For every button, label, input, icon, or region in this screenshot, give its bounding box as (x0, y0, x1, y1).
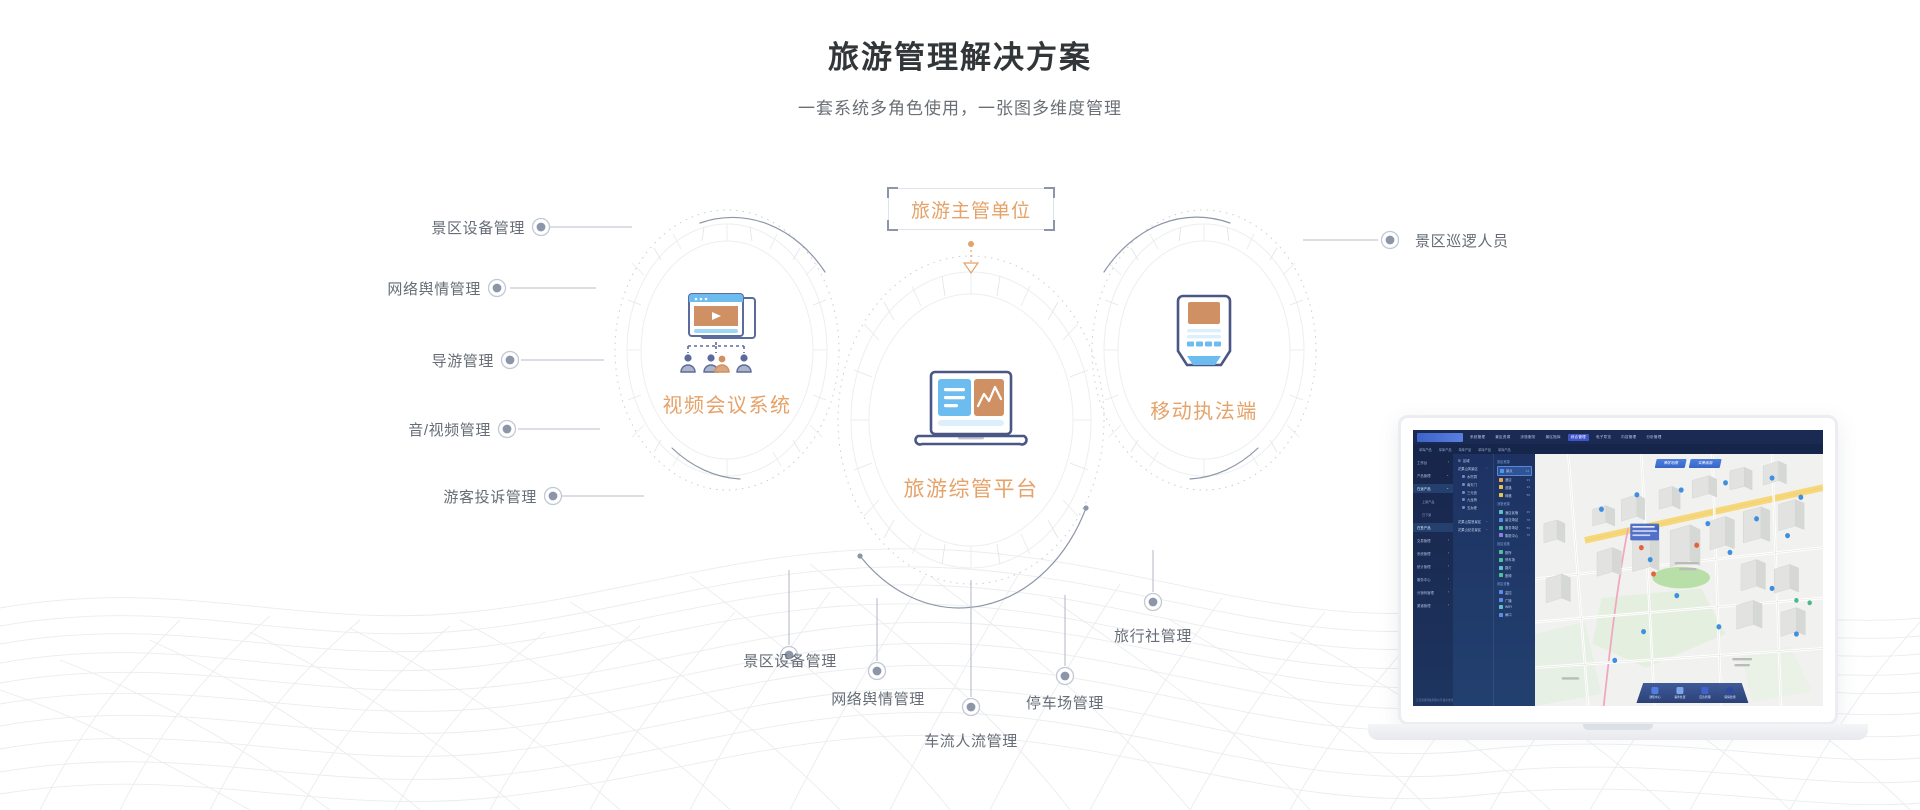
page-subtitle: 一套系统多角色使用，一张图多维度管理 (0, 94, 1920, 119)
region-tree-label-3: 三元宫 (1467, 490, 1477, 495)
page-title: 旅游管理解决方案 (0, 38, 1920, 78)
corner-bottom-left (887, 220, 898, 231)
node-label-bottom-1[interactable]: 网络舆情管理 (818, 688, 938, 709)
layer-count-1-2: 55 (1527, 526, 1530, 530)
topbar-menu-1[interactable]: 景区资源 (1492, 434, 1513, 441)
layer-color-swatch (1499, 558, 1503, 562)
layer-label-3-2: WIFI (1505, 605, 1512, 609)
layer-color-swatch (1499, 518, 1503, 522)
layer-item-1-3[interactable]: 集散中心76 (1497, 531, 1532, 539)
dock-label-1: 事件处置 (1674, 695, 1685, 699)
region-tree-label-6: 花果山智慧景区 (1458, 519, 1481, 524)
topbar-menu-4[interactable]: 综合管理 (1568, 434, 1589, 441)
dashboard-logo (1417, 433, 1463, 442)
region-tree-label-1: 水帘洞 (1467, 474, 1477, 479)
layer-color-swatch (1499, 493, 1503, 497)
hub-title-tourism-platform: 旅游综管平台 (881, 473, 1061, 503)
dashboard-tab-2[interactable]: 单库产品 (1459, 447, 1472, 452)
layer-color-swatch (1499, 478, 1503, 482)
right-connectors (1303, 232, 1399, 249)
dock-item-0[interactable]: 通知中心 (1649, 687, 1660, 699)
emergency-management-icon (1701, 687, 1708, 694)
dock-label-0: 通知中心 (1649, 695, 1660, 699)
left-connectors (510, 227, 644, 496)
hub-title-mobile-enforcement: 移动执法端 (1114, 395, 1294, 424)
layer-color-swatch (1499, 573, 1503, 577)
layer-item-0-2[interactable]: 道路23 (1497, 484, 1532, 492)
video-conference-icon (667, 290, 787, 376)
sidenav-item-11[interactable]: 渠道管理› (1413, 601, 1453, 610)
sidenav-item-2[interactable]: 在途产品⌄ (1413, 484, 1453, 493)
layer-count-0-1: 23 (1527, 478, 1530, 482)
region-tree-label-4: 九龙桥 (1467, 497, 1477, 502)
sidenav-label-8: 统计管理 (1417, 564, 1431, 569)
region-tree-label-0: 花果山风景区 (1458, 466, 1478, 471)
sidenav-item-3[interactable]: 上架产品 (1413, 497, 1453, 506)
node-label-left-3[interactable]: 音/视频管理 (255, 419, 491, 440)
topbar-menu-0[interactable]: 系统管理 (1467, 434, 1488, 441)
bullet-dot (1462, 491, 1465, 494)
sidenav-label-10: 分销商管理 (1417, 590, 1434, 595)
layer-count-1-3: 76 (1527, 533, 1530, 537)
sidenav-item-0[interactable]: 工作台› (1413, 458, 1453, 467)
chevron-right-icon: › (1448, 577, 1449, 582)
node-label-left-0[interactable]: 景区设备管理 (285, 217, 525, 238)
layer-item-0-0[interactable]: 景点23 (1497, 466, 1532, 476)
layer-count-0-0: 23 (1526, 469, 1529, 473)
layer-item-0-1[interactable]: 酒店23 (1497, 476, 1532, 484)
layer-group-title-3: 景区设备 (1497, 581, 1532, 586)
dock-item-2[interactable]: 应急管理 (1699, 687, 1710, 699)
sidenav-label-1: 产品管理 (1417, 473, 1431, 478)
sidenav-label-9: 服务中心 (1417, 577, 1431, 582)
bullet-dot (1462, 506, 1465, 509)
layer-item-1-0[interactable]: 酒店民宿45 (1497, 508, 1532, 516)
layer-color-swatch (1499, 550, 1503, 554)
topbar-menu-2[interactable]: 涉旅服务 (1517, 434, 1538, 441)
event-handling-icon (1676, 687, 1683, 694)
chevron-up-icon: ⌃ (1485, 467, 1488, 471)
layer-label-2-2: 路灯 (1505, 565, 1512, 570)
bullet-dot (1462, 483, 1465, 486)
layer-group-title-0: 景区资源 (1497, 459, 1532, 464)
dashboard-tab-3[interactable]: 单库产品 (1478, 447, 1491, 452)
menu-icon: ☰ (1458, 459, 1461, 463)
hub-video-conference[interactable]: 视频会议系统 (637, 290, 817, 418)
topbar-menu-3[interactable]: 景区指挥 (1543, 434, 1564, 441)
laptop-mockup: 系统管理 景区资源 涉旅服务 景区指挥 综合管理 电子导览 内容管理 分析管理 … (1368, 415, 1868, 767)
chevron-down-icon: ⌄ (1485, 519, 1488, 523)
authority-label: 旅游主管单位 (911, 196, 1031, 223)
sidenav-label-7: 系统管理 (1417, 551, 1431, 556)
node-label-bottom-2[interactable]: 车流人流管理 (911, 730, 1031, 751)
layer-color-swatch (1499, 533, 1503, 537)
sidenav-item-6[interactable]: 交易管理› (1413, 536, 1453, 545)
topbar-menu-7[interactable]: 分析管理 (1643, 434, 1664, 441)
layer-count-1-0: 45 (1527, 510, 1530, 514)
laptop-dashboard-icon (906, 368, 1036, 460)
layer-item-3-2[interactable]: WIFI (1497, 604, 1532, 611)
layer-item-2-1[interactable]: 停车场 (1497, 556, 1532, 564)
node-label-bottom-4[interactable]: 旅行社管理 (1093, 625, 1213, 646)
sidenav-label-2: 在途产品 (1417, 486, 1431, 491)
sidenav-item-8[interactable]: 统计管理› (1413, 562, 1453, 571)
hub-tourism-platform[interactable]: 旅游综管平台 (881, 368, 1061, 503)
sidenav-label-0: 工作台 (1417, 460, 1427, 465)
left-node-dots (489, 219, 562, 505)
node-label-bottom-3[interactable]: 停车场管理 (1005, 692, 1125, 713)
layer-color-swatch (1499, 598, 1503, 602)
layer-item-1-1[interactable]: 景交场站78 (1497, 516, 1532, 524)
corner-top-right (1044, 187, 1055, 198)
dock-label-3: 舆情监测 (1724, 695, 1735, 699)
dashboard-layer-panel: ☰ 区域 花果山风景区⌃ 水帘洞 南天门 三元宫 九龙桥 玉女峰 花果山智慧景区… (1453, 454, 1535, 706)
sidenav-item-9[interactable]: 服务中心› (1413, 575, 1453, 584)
layer-label-3-1: 广播 (1505, 598, 1512, 603)
page-root: 旅游管理解决方案 一套系统多角色使用，一张图多维度管理 (0, 0, 1920, 810)
layer-item-3-0[interactable]: 监控 (1497, 588, 1532, 596)
notification-center-icon (1651, 687, 1658, 694)
region-tree-item-6[interactable]: 花果山智慧景区⌄ (1456, 517, 1490, 525)
layer-label-0-0: 景点 (1506, 468, 1513, 473)
layer-count-1-1: 78 (1527, 518, 1530, 522)
layer-count-0-2: 23 (1527, 485, 1530, 489)
authority-connector (964, 241, 978, 273)
map-canvas (1535, 454, 1823, 706)
layer-label-1-0: 酒店民宿 (1505, 510, 1518, 515)
dashboard-tabbar: 单库产品 单库产品 单库产品 单库产品 单库产品 (1413, 444, 1823, 454)
handheld-terminal-icon (1161, 290, 1247, 382)
dashboard-topbar: 系统管理 景区资源 涉旅服务 景区指挥 综合管理 电子导览 内容管理 分析管理 (1413, 430, 1823, 444)
dashboard-map[interactable]: 景区地图 实景画面 通知中心 事件处置 (1535, 454, 1823, 706)
layer-item-3-1[interactable]: 广播 (1497, 596, 1532, 604)
map-bottom-dock: 通知中心 事件处置 应急管理 (1636, 683, 1748, 703)
dashboard-tab-4[interactable]: 单库产品 (1498, 447, 1511, 452)
node-label-left-2[interactable]: 导游管理 (258, 350, 494, 371)
node-label-bottom-0[interactable]: 景区设备管理 (730, 650, 850, 671)
page-header: 旅游管理解决方案 一套系统多角色使用，一张图多维度管理 (0, 0, 1920, 119)
region-tree-label-2: 南天门 (1467, 482, 1477, 487)
sidenav-label-5: 在售产品 (1417, 525, 1431, 530)
dashboard-footer-note: 江苏某某科技有限公司 技术支持 (1416, 699, 1453, 703)
topbar-menu-5[interactable]: 电子导览 (1593, 434, 1614, 441)
region-tree-item-4[interactable]: 九龙桥 (1456, 496, 1490, 504)
sidenav-item-4[interactable]: 已下架 (1413, 510, 1453, 519)
map-view-toggle[interactable]: 景区地图 实景画面 (1655, 459, 1722, 468)
region-tree: ☰ 区域 花果山风景区⌃ 水帘洞 南天门 三元宫 九龙桥 玉女峰 花果山智慧景区… (1453, 454, 1493, 706)
region-tree-item-7[interactable]: 花果山纪念景区⌄ (1456, 525, 1490, 533)
layer-label-0-2: 道路 (1505, 485, 1512, 490)
layer-count-0-3: 56 (1527, 493, 1530, 497)
layer-item-2-0[interactable]: 厕所 (1497, 548, 1532, 556)
layer-color-swatch (1499, 566, 1503, 570)
layer-label-2-1: 停车场 (1505, 557, 1515, 562)
region-tree-item-2[interactable]: 南天门 (1456, 480, 1490, 488)
sidenav-label-4: 已下架 (1422, 512, 1431, 517)
topbar-menu-6[interactable]: 内容管理 (1618, 434, 1639, 441)
dock-label-2: 应急管理 (1699, 695, 1710, 699)
corner-top-left (887, 187, 898, 198)
sidenav-item-1[interactable]: 产品管理⌄ (1413, 471, 1453, 480)
layer-list: 景区资源 景点23 酒店23 道路23 网格56 涉旅资源 酒店民宿45 景交场… (1493, 454, 1535, 706)
layer-color-swatch (1499, 510, 1503, 514)
sidenav-item-10[interactable]: 分销商管理› (1413, 588, 1453, 597)
chevron-right-icon: › (1448, 460, 1449, 465)
chevron-down-icon: ⌄ (1446, 486, 1449, 491)
dock-item-3[interactable]: 舆情监测 (1724, 687, 1735, 699)
layer-label-2-0: 厕所 (1505, 550, 1512, 555)
public-opinion-icon (1726, 687, 1733, 694)
bullet-dot (1462, 475, 1465, 478)
sidenav-item-7[interactable]: 系统管理› (1413, 549, 1453, 558)
layer-item-2-2[interactable]: 路灯 (1497, 564, 1532, 572)
chevron-right-icon: › (1448, 590, 1449, 595)
chevron-right-icon: › (1448, 603, 1449, 608)
sidenav-label-3: 上架产品 (1422, 499, 1434, 504)
layer-group-title-1: 涉旅资源 (1497, 501, 1532, 506)
region-tree-item-3[interactable]: 三元宫 (1456, 488, 1490, 496)
dock-item-1[interactable]: 事件处置 (1674, 687, 1685, 699)
layer-label-0-3: 网格 (1505, 493, 1512, 498)
sidenav-label-6: 交易管理 (1417, 538, 1431, 543)
layer-color-swatch (1499, 526, 1503, 530)
region-tree-label-7: 花果山纪念景区 (1458, 527, 1481, 532)
dashboard-tab-1[interactable]: 单库产品 (1439, 447, 1452, 452)
map-chip-1[interactable]: 实景画面 (1689, 459, 1721, 468)
chevron-right-icon: › (1448, 564, 1449, 569)
sidenav-item-5[interactable]: 在售产品 (1413, 523, 1453, 532)
layer-color-swatch (1499, 605, 1503, 609)
layer-label-2-3: 座椅 (1505, 573, 1512, 578)
bullet-dot (1462, 498, 1465, 501)
region-tree-title: ☰ 区域 (1456, 457, 1490, 465)
node-label-right-0[interactable]: 景区巡逻人员 (1415, 230, 1509, 251)
layer-color-swatch (1499, 613, 1503, 617)
chevron-right-icon: › (1448, 551, 1449, 556)
authority-box[interactable]: 旅游主管单位 (888, 188, 1054, 230)
laptop-screen-bezel: 系统管理 景区资源 涉旅服务 景区指挥 综合管理 电子导览 内容管理 分析管理 … (1398, 415, 1838, 725)
region-tree-title-label: 区域 (1463, 458, 1470, 463)
layer-item-2-3[interactable]: 座椅 (1497, 572, 1532, 580)
layer-color-swatch (1499, 485, 1503, 489)
node-label-left-1[interactable]: 网络舆情管理 (245, 278, 481, 299)
map-chip-0[interactable]: 景区地图 (1655, 459, 1687, 468)
layer-label-3-3: 闸口 (1505, 612, 1512, 617)
bottom-connectors (789, 550, 1153, 697)
region-tree-item-0[interactable]: 花果山风景区⌃ (1456, 465, 1490, 473)
chevron-right-icon: › (1448, 538, 1449, 543)
hub-title-video-conference: 视频会议系统 (637, 389, 817, 418)
layer-item-0-3[interactable]: 网格56 (1497, 491, 1532, 499)
laptop-notch (1583, 724, 1653, 730)
region-tree-item-5[interactable]: 玉女峰 (1456, 504, 1490, 512)
layer-label-0-1: 酒店 (1505, 477, 1512, 482)
layer-item-3-3[interactable]: 闸口 (1497, 611, 1532, 619)
layer-color-swatch (1499, 590, 1503, 594)
layer-item-1-2[interactable]: 服务场站55 (1497, 524, 1532, 532)
layer-label-3-0: 监控 (1505, 590, 1512, 595)
layer-group-title-2: 景区设施 (1497, 541, 1532, 546)
chevron-down-icon: ⌄ (1485, 527, 1488, 531)
dashboard-sidenav: 工作台› 产品管理⌄ 在途产品⌄ 上架产品 已下架 在售产品 交易管理› 系统管… (1413, 454, 1453, 706)
chevron-down-icon: ⌄ (1446, 473, 1449, 478)
region-tree-item-1[interactable]: 水帘洞 (1456, 473, 1490, 481)
hub-mobile-enforcement[interactable]: 移动执法端 (1114, 290, 1294, 424)
layer-label-1-3: 集散中心 (1505, 533, 1518, 538)
dashboard-tab-0[interactable]: 单库产品 (1419, 447, 1432, 452)
region-tree-label-5: 玉女峰 (1467, 505, 1477, 510)
dashboard-body: 工作台› 产品管理⌄ 在途产品⌄ 上架产品 已下架 在售产品 交易管理› 系统管… (1413, 454, 1823, 706)
corner-bottom-right (1044, 220, 1055, 231)
sidenav-label-11: 渠道管理 (1417, 603, 1431, 608)
layer-label-1-2: 服务场站 (1505, 525, 1518, 530)
dashboard-screen: 系统管理 景区资源 涉旅服务 景区指挥 综合管理 电子导览 内容管理 分析管理 … (1413, 430, 1823, 706)
node-label-left-4[interactable]: 游客投诉管理 (300, 486, 537, 507)
layer-color-swatch (1500, 469, 1504, 473)
layer-label-1-1: 景交场站 (1505, 517, 1518, 522)
